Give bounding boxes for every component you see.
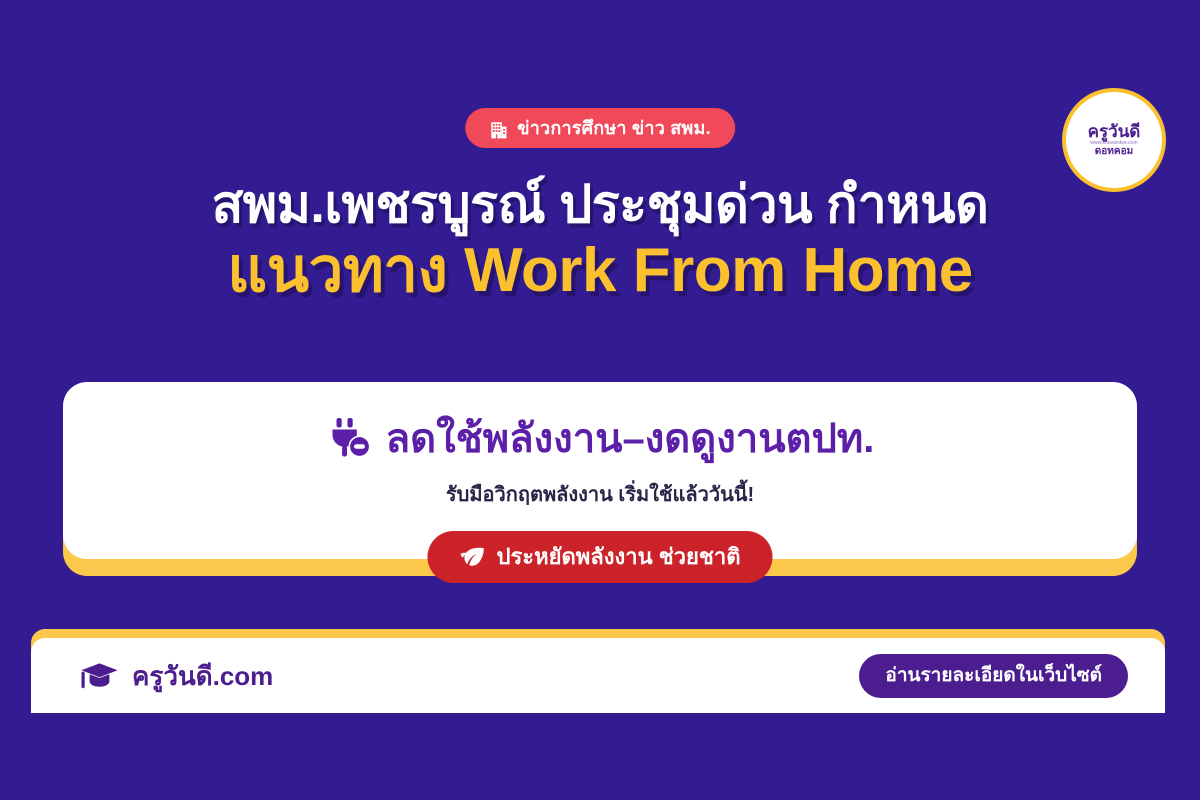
poster-canvas: ข่าวการศึกษา ข่าว สพม. ครูวันดี www.kruw… <box>0 0 1200 800</box>
footer-brand-text: ครูวันดี.com <box>132 663 273 689</box>
read-more-button-label: อ่านรายละเอียดในเว็บไซต์ <box>885 666 1102 685</box>
brand-logo-sub-text: ดอทคอม <box>1095 147 1133 157</box>
graduation-cap-icon <box>79 661 119 691</box>
main-card-heading-row: ลดใช้พลังงาน–งดดูงานตปท. <box>63 416 1137 462</box>
plug-disconnect-icon <box>326 416 372 462</box>
leaf-icon <box>460 546 486 569</box>
main-card-heading: ลดใช้พลังงาน–งดดูงานตปท. <box>386 419 875 459</box>
read-more-button[interactable]: อ่านรายละเอียดในเว็บไซต์ <box>859 654 1128 698</box>
footer-card: ครูวันดี.com อ่านรายละเอียดในเว็บไซต์ <box>31 638 1165 713</box>
cta-pill-label: ประหยัดพลังงาน ช่วยชาติ <box>497 546 741 568</box>
headline-line-1: สพม.เพชรบูรณ์ ประชุมด่วน กำหนด <box>0 176 1200 234</box>
category-badge-label: ข่าวการศึกษา ข่าว สพม. <box>517 119 711 137</box>
category-badge[interactable]: ข่าวการศึกษา ข่าว สพม. <box>465 108 735 148</box>
brand-logo-main-text: ครูวันดี <box>1088 123 1141 140</box>
cta-pill[interactable]: ประหยัดพลังงาน ช่วยชาติ <box>428 531 773 583</box>
headline: สพม.เพชรบูรณ์ ประชุมด่วน กำหนด แนวทาง Wo… <box>0 176 1200 307</box>
main-card-subheading: รับมือวิกฤตพลังงาน เริ่มใช้แล้ววันนี้! <box>63 485 1137 505</box>
footer-brand[interactable]: ครูวันดี.com <box>79 638 273 713</box>
school-building-icon <box>489 118 508 139</box>
headline-line-2: แนวทาง Work From Home <box>0 234 1200 307</box>
